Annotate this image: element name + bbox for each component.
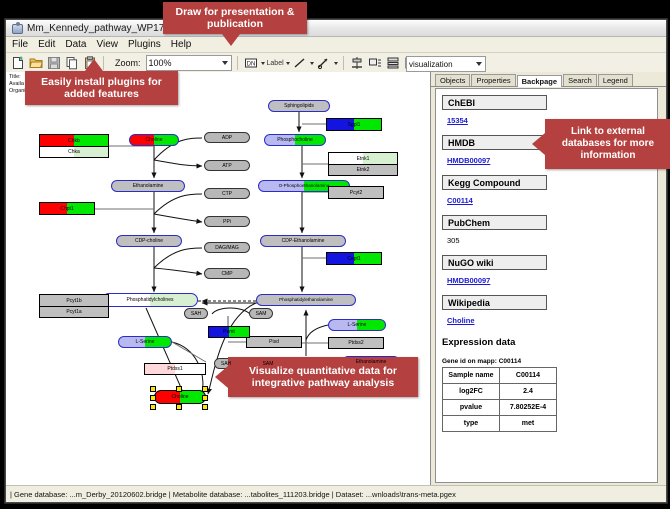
interaction-dropdown-icon[interactable] (334, 62, 338, 65)
label-dropdown-icon[interactable] (286, 62, 290, 65)
datanode-dropdown-icon[interactable] (261, 62, 265, 65)
cell-label-log2fc: log2FC (443, 384, 500, 400)
section-header-chebi: ChEBI (442, 95, 547, 110)
section-header-kegg: Kegg Compound (442, 175, 547, 190)
section-header-pubchem: PubChem (442, 215, 547, 230)
zoom-combo[interactable]: 100% (146, 55, 232, 71)
callout-draw-arrow-icon (222, 34, 240, 46)
cell-label-pvalue: pvalue (443, 400, 500, 416)
zoom-label: Zoom: (115, 58, 141, 68)
node-gene-pisd[interactable]: Pisd (246, 336, 302, 348)
node-gene-group-etnk[interactable]: Etnk1 Etnk2 (328, 152, 398, 176)
pathvisio-icon (11, 22, 23, 34)
link-wikipedia[interactable]: Choline (447, 316, 475, 325)
node-sam-1[interactable]: SAM (249, 308, 273, 319)
node-gene-pcyt1a[interactable]: Pcyt1a (40, 306, 108, 317)
node-phosphocholine[interactable]: Ethanolamine (111, 180, 185, 192)
menu-view[interactable]: View (95, 39, 119, 50)
node-gene-chpt1[interactable]: Chpt1 (39, 202, 95, 215)
callout-visualize-text: Visualize quantitative data for integrat… (232, 365, 414, 389)
stack-icon[interactable] (385, 55, 401, 71)
callout-draw-text: Draw for presentation & publication (167, 6, 303, 30)
node-gene-cept1[interactable]: Cept1 (326, 252, 382, 265)
node-gene-pcyt1b[interactable]: Pcyt1b (40, 295, 108, 306)
node-gene-etnk1[interactable]: Etnk1 (329, 153, 397, 164)
link-nugo[interactable]: HMDB00097 (447, 276, 490, 285)
tab-backpage[interactable]: Backpage (517, 75, 562, 87)
table-row: log2FC 2.4 (443, 384, 557, 400)
node-ctp[interactable]: CTP (204, 188, 250, 199)
link-chebi[interactable]: 15354 (447, 116, 468, 125)
zoom-value: 100% (149, 58, 172, 68)
table-row: Sample name C00114 (443, 368, 557, 384)
node-gene-pemt[interactable]: Pemt (208, 326, 250, 338)
node-sphingolipids[interactable]: Sphingolipids (268, 100, 330, 112)
spacer (442, 168, 657, 175)
callout-plugins-arrow-icon (85, 59, 103, 71)
node-gene-group-pcyt1[interactable]: Pcyt1b Pcyt1a (39, 294, 109, 318)
pathway-canvas[interactable]: Title: Availa Organi (6, 72, 431, 485)
node-sah-1[interactable]: SAH (184, 308, 208, 319)
visualization-combo[interactable]: visualization (406, 56, 486, 72)
table-row: pvalue 7.80252E-4 (443, 400, 557, 416)
open-folder-icon[interactable] (28, 55, 44, 71)
cell-label-sample: Sample name (443, 368, 500, 384)
chevron-down-icon (222, 61, 228, 65)
svg-text:DN: DN (246, 62, 255, 68)
save-icon[interactable] (46, 55, 62, 71)
node-gene-ptdss1[interactable]: Ptdss1 (144, 363, 206, 375)
info-organism: Organi (9, 88, 26, 95)
section-header-nugo: NuGO wiki (442, 255, 547, 270)
toolbar-separator-2 (237, 56, 238, 70)
node-cdp-choline[interactable]: CDP-choline (116, 235, 182, 247)
menubar: File Edit Data View Plugins Help (6, 37, 666, 53)
node-l-serine-right[interactable]: L-Serine (328, 319, 386, 331)
value-pubchem: 305 (447, 236, 460, 245)
node-gene-etnk2[interactable]: Etnk2 (329, 164, 397, 175)
node-gene-ptdss2[interactable]: Ptdss2 (328, 337, 384, 349)
toolbar-separator-1 (103, 56, 104, 70)
menu-plugins[interactable]: Plugins (127, 39, 162, 50)
node-gene-group-chk[interactable]: Chkb Chka (39, 134, 109, 158)
spacer (442, 288, 657, 295)
info-availability: Availa (9, 81, 26, 88)
link-hmdb[interactable]: HMDB00097 (447, 156, 490, 165)
node-gene-chkb[interactable]: Chkb (40, 135, 108, 146)
node-ppi[interactable]: PPi (204, 216, 250, 227)
node-atp[interactable]: ATP (204, 160, 250, 171)
node-phosphatidylcholines[interactable]: Phosphatidylcholines (102, 293, 198, 307)
node-choline-top[interactable]: Choline (129, 134, 179, 146)
callout-plugins: Easily install plugins for added feature… (25, 71, 178, 105)
cell-value-pvalue: 7.80252E-4 (500, 400, 557, 416)
cell-value-type: met (500, 416, 557, 432)
callout-plugins-text: Easily install plugins for added feature… (29, 76, 174, 100)
tab-properties[interactable]: Properties (471, 74, 515, 86)
screenshot-root: Mm_Kennedy_pathway_WP1771_45176.gpml Fil… (0, 0, 670, 509)
callout-draw: Draw for presentation & publication (163, 2, 307, 34)
label-tool-label[interactable]: Label (267, 60, 284, 67)
align-icon[interactable] (349, 55, 365, 71)
menu-edit[interactable]: Edit (37, 39, 56, 50)
node-cdp-ethanolamine[interactable]: CDP-Ethanolamine (260, 235, 346, 247)
visualization-value: visualization (409, 60, 453, 69)
spacer (442, 208, 657, 215)
callout-links-arrow-icon (532, 133, 545, 155)
node-l-serine-left[interactable]: L-Serine (118, 336, 172, 348)
callout-visualize: Visualize quantitative data for integrat… (228, 357, 418, 397)
interaction-icon[interactable] (316, 55, 332, 71)
node-dagmag[interactable]: DAG/MAG (204, 242, 250, 253)
cell-label-type: type (443, 416, 500, 432)
section-header-wikipedia: Wikipedia (442, 295, 547, 310)
info-title: Title: (9, 74, 26, 81)
tab-objects[interactable]: Objects (435, 74, 470, 86)
node-gene-pcyt2[interactable]: Pcyt2 (328, 186, 384, 199)
line-dropdown-icon[interactable] (310, 62, 314, 65)
spacer (442, 248, 657, 255)
node-phosphatidylethanolamine[interactable]: Phosphatidylethanolamine (256, 294, 356, 306)
node-gene-sgpl1[interactable]: Sgpl1 (326, 118, 382, 131)
node-cmp[interactable]: CMP (204, 268, 250, 279)
tab-search[interactable]: Search (563, 74, 597, 86)
node-choline-selected[interactable]: Choline (154, 390, 206, 404)
menu-help[interactable]: Help (170, 39, 193, 50)
callout-links: Link to external databases for more info… (545, 119, 670, 169)
status-text: | Gene database: ...m_Derby_20120602.bri… (10, 490, 456, 499)
menu-data[interactable]: Data (64, 39, 87, 50)
node-gene-chka[interactable]: Chka (40, 146, 108, 157)
datanode-icon[interactable]: DN (243, 55, 259, 71)
cell-value-log2fc: 2.4 (500, 384, 557, 400)
copy-icon[interactable] (64, 55, 80, 71)
expression-table: Sample name C00114 log2FC 2.4 pvalue 7.8… (442, 367, 557, 432)
callout-links-text: Link to external databases for more info… (549, 126, 667, 162)
node-adp[interactable]: ADP (204, 132, 250, 143)
tab-legend[interactable]: Legend (598, 74, 633, 86)
new-file-icon[interactable] (10, 55, 26, 71)
link-kegg[interactable]: C00114 (447, 196, 473, 205)
menu-file[interactable]: File (11, 39, 29, 50)
node-ethanolamine-top[interactable]: Phosphocholine (264, 134, 326, 146)
window-titlebar: Mm_Kennedy_pathway_WP1771_45176.gpml (6, 20, 666, 37)
status-bar: | Gene database: ...m_Derby_20120602.bri… (6, 485, 666, 502)
chevron-down-icon (476, 62, 482, 66)
cell-value-sample: C00114 (500, 368, 557, 384)
expression-data-title: Expression data (442, 337, 657, 348)
sidebar-tabs: Objects Properties Backpage Search Legen… (431, 72, 666, 87)
toolbar-separator-3 (343, 56, 344, 70)
callout-visualize-arrow-icon (215, 366, 228, 388)
line-icon[interactable] (292, 55, 308, 71)
order-icon[interactable] (367, 55, 383, 71)
gene-id-on-mapp: Gene id on mapp: C00114 (442, 358, 657, 365)
table-row: type met (443, 416, 557, 432)
pathway-info-text: Title: Availa Organi (9, 74, 26, 95)
